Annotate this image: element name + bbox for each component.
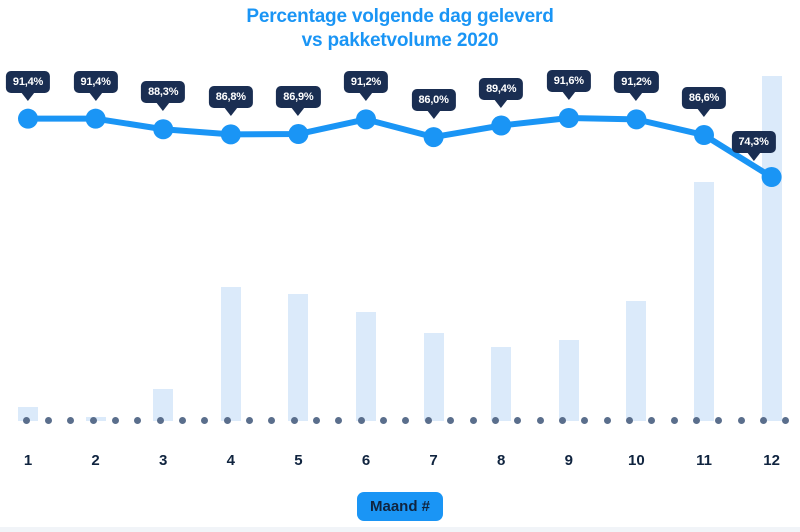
line-marker-month-4[interactable] bbox=[221, 124, 241, 144]
line-marker-month-9[interactable] bbox=[559, 108, 579, 128]
x-tick-10: 10 bbox=[628, 452, 645, 469]
x-tick-4: 4 bbox=[227, 452, 235, 469]
data-label-month-5: 86,9% bbox=[276, 86, 320, 108]
data-label-month-2: 91,4% bbox=[73, 71, 117, 93]
plot-area: 91,4%91,4%88,3%86,8%86,9%91,2%86,0%89,4%… bbox=[0, 55, 800, 435]
line-marker-month-2[interactable] bbox=[86, 109, 106, 129]
chart-root: Percentage volgende dag geleverd vs pakk… bbox=[0, 0, 800, 532]
x-tick-2: 2 bbox=[91, 452, 99, 469]
line-marker-month-8[interactable] bbox=[491, 116, 511, 136]
x-tick-7: 7 bbox=[429, 452, 437, 469]
x-tick-8: 8 bbox=[497, 452, 505, 469]
x-axis-title-badge: Maand # bbox=[357, 492, 443, 521]
line-marker-month-1[interactable] bbox=[18, 109, 38, 129]
line-path bbox=[28, 118, 772, 177]
data-label-month-12: 74,3% bbox=[731, 131, 775, 153]
data-label-month-6: 91,2% bbox=[344, 71, 388, 93]
bottom-strip bbox=[0, 527, 800, 532]
line-series-percentage bbox=[0, 55, 800, 435]
data-label-month-1: 91,4% bbox=[6, 71, 50, 93]
x-tick-12: 12 bbox=[763, 452, 780, 469]
line-marker-month-7[interactable] bbox=[424, 127, 444, 147]
chart-title: Percentage volgende dag geleverd vs pakk… bbox=[0, 5, 800, 53]
chart-title-line-1: Percentage volgende dag geleverd bbox=[0, 5, 800, 29]
line-marker-month-12[interactable] bbox=[762, 167, 782, 187]
x-tick-3: 3 bbox=[159, 452, 167, 469]
line-marker-month-11[interactable] bbox=[694, 125, 714, 145]
x-tick-1: 1 bbox=[24, 452, 32, 469]
data-label-month-3: 88,3% bbox=[141, 81, 185, 103]
data-label-month-7: 86,0% bbox=[411, 89, 455, 111]
x-axis-tick-labels: 123456789101112 bbox=[0, 452, 800, 478]
line-marker-month-5[interactable] bbox=[288, 124, 308, 144]
line-marker-month-3[interactable] bbox=[153, 119, 173, 139]
x-tick-5: 5 bbox=[294, 452, 302, 469]
data-label-month-8: 89,4% bbox=[479, 78, 523, 100]
x-tick-6: 6 bbox=[362, 452, 370, 469]
data-label-month-10: 91,2% bbox=[614, 71, 658, 93]
data-label-month-11: 86,6% bbox=[682, 87, 726, 109]
data-label-month-4: 86,8% bbox=[209, 86, 253, 108]
x-axis-title-wrap: Maand # bbox=[0, 492, 800, 521]
line-marker-month-10[interactable] bbox=[626, 109, 646, 129]
x-tick-9: 9 bbox=[565, 452, 573, 469]
chart-title-line-2: vs pakketvolume 2020 bbox=[0, 29, 800, 53]
data-label-month-9: 91,6% bbox=[547, 70, 591, 92]
x-tick-11: 11 bbox=[696, 452, 712, 469]
line-marker-month-6[interactable] bbox=[356, 109, 376, 129]
